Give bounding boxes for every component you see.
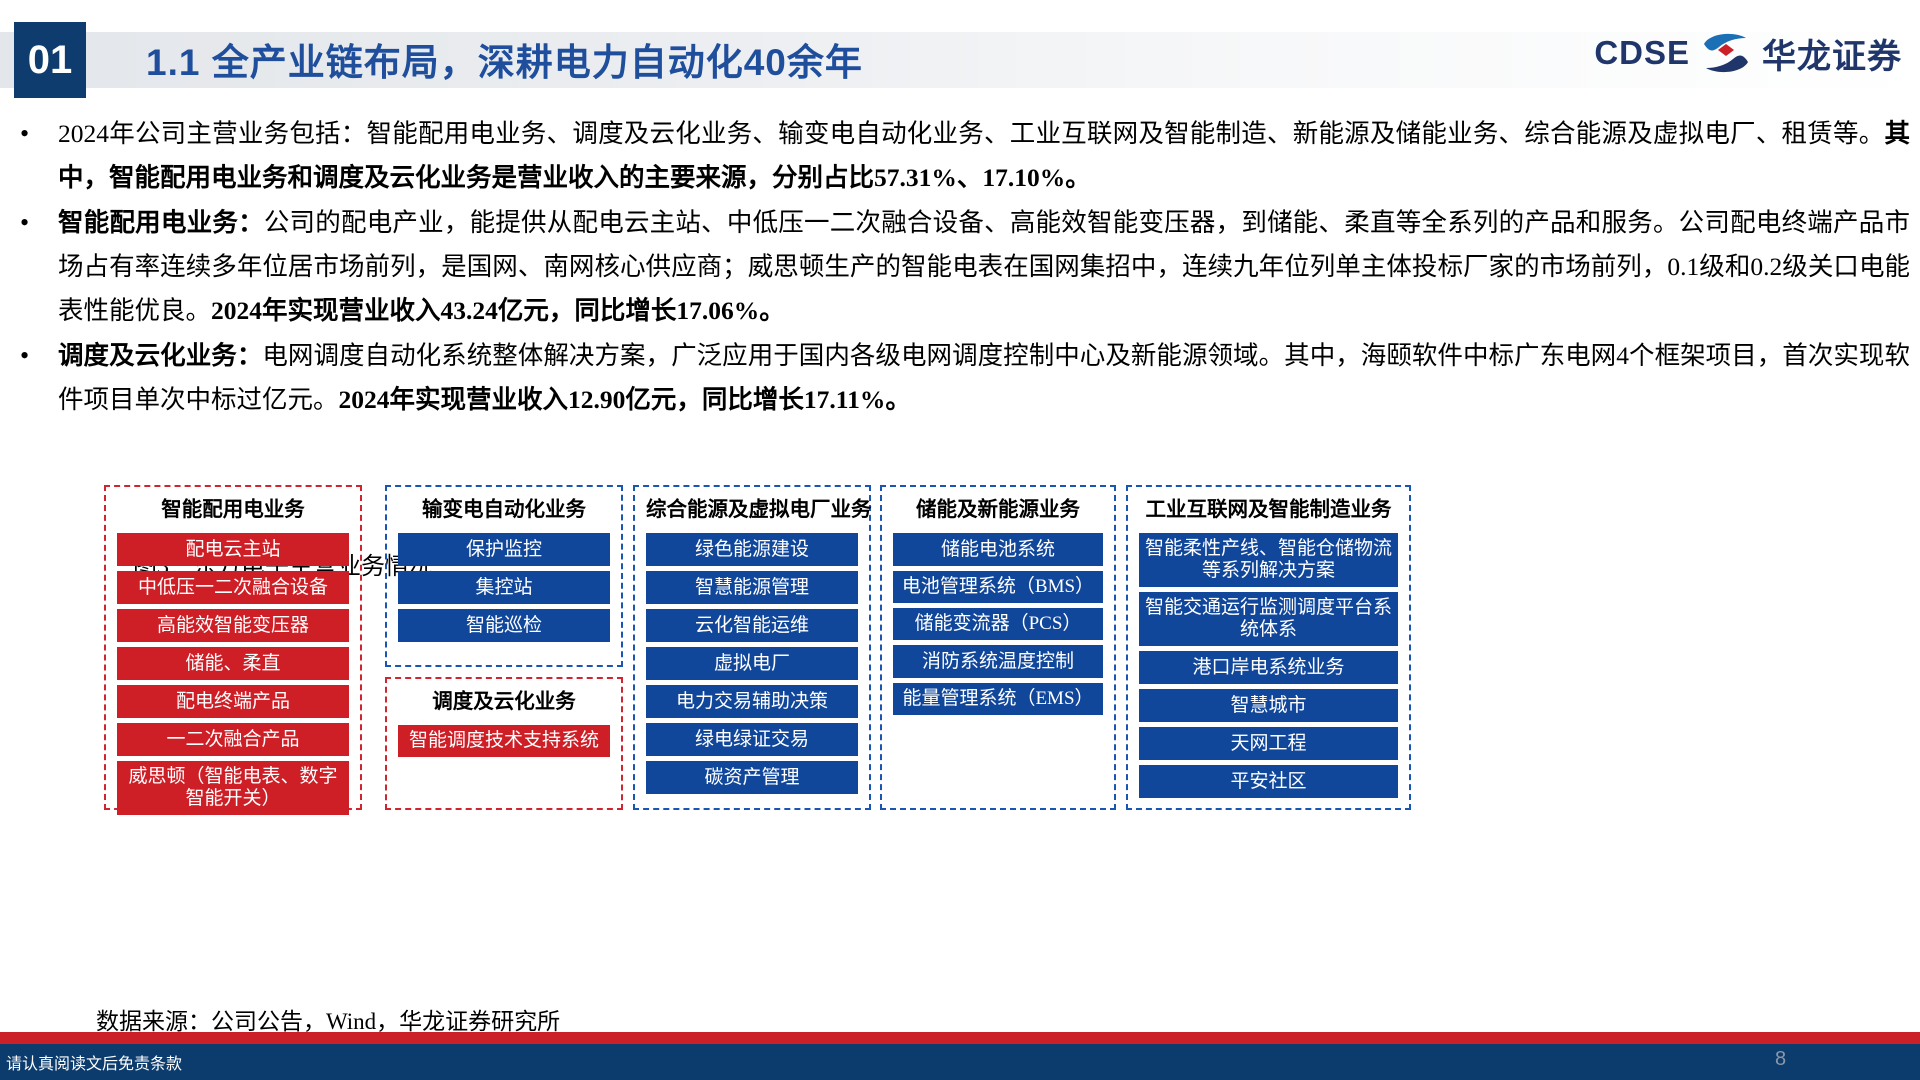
group-dispatch-cloud: 调度及云化业务 智能调度技术支持系统 (385, 677, 623, 810)
group-smart-distribution: 智能配用电业务 配电云主站 中低压一二次融合设备 高能效智能变压器 储能、柔直 … (104, 485, 362, 810)
company-logo: CDSE 华龙证券 (1594, 26, 1902, 80)
diagram-column-3: 综合能源及虚拟电厂业务 绿色能源建设 智慧能源管理 云化智能运维 虚拟电厂 电力… (633, 485, 871, 810)
chip-item: 储能变流器（PCS） (893, 608, 1103, 640)
logo-chinese-text: 华龙证券 (1762, 29, 1902, 78)
chip-item: 能量管理系统（EMS） (893, 683, 1103, 715)
footer-navy-bar: 请认真阅读文后免责条款 8 (0, 1044, 1920, 1080)
group-storage-new-energy: 储能及新能源业务 储能电池系统 电池管理系统（BMS） 储能变流器（PCS） 消… (880, 485, 1116, 810)
bullet-run-bold: 2024年实现营业收入43.24亿元，同比增长17.06%。 (211, 296, 785, 325)
diagram-column-5: 工业互联网及智能制造业务 智能柔性产线、智能仓储物流等系列解决方案 智能交通运行… (1126, 485, 1411, 810)
chip-item: 智慧能源管理 (646, 571, 858, 604)
footer-disclaimer: 请认真阅读文后免责条款 (6, 1050, 182, 1074)
group-title: 智能配用电业务 (117, 498, 349, 522)
business-structure-diagram: 智能配用电业务 配电云主站 中低压一二次融合设备 高能效智能变压器 储能、柔直 … (104, 485, 1704, 810)
chip-item: 智能调度技术支持系统 (398, 725, 610, 757)
chip-item: 消防系统温度控制 (893, 645, 1103, 678)
page-title: 1.1 全产业链布局，深耕电力自动化40余年 (146, 30, 863, 88)
slide-header: 01 1.1 全产业链布局，深耕电力自动化40余年 CDSE 华龙证券 (0, 0, 1920, 112)
chip-item: 碳资产管理 (646, 761, 858, 794)
bullet-marker: • (20, 201, 29, 245)
wave-swoosh-icon (1700, 32, 1752, 74)
chip-item: 高能效智能变压器 (117, 609, 349, 642)
chip-item: 一二次融合产品 (117, 723, 349, 756)
bullet-run: 电网调度自动化系统整体解决方案，广泛应用于国内各级电网调度控制中心及新能源领域。… (58, 341, 1910, 414)
chip-item: 电力交易辅助决策 (646, 685, 858, 718)
chip-item: 储能、柔直 (117, 647, 349, 680)
group-transmission-automation: 输变电自动化业务 保护监控 集控站 智能巡检 (385, 485, 623, 667)
bullet-run-bold: 智能配用电业务： (58, 208, 264, 237)
chip-item: 虚拟电厂 (646, 647, 858, 680)
group-title: 工业互联网及智能制造业务 (1139, 498, 1398, 522)
group-title: 储能及新能源业务 (893, 498, 1103, 522)
chip-item: 智能巡检 (398, 609, 610, 642)
group-integrated-energy-vpp: 综合能源及虚拟电厂业务 绿色能源建设 智慧能源管理 云化智能运维 虚拟电厂 电力… (633, 485, 871, 810)
group-title: 综合能源及虚拟电厂业务 (646, 498, 858, 522)
chip-item: 港口岸电系统业务 (1139, 651, 1398, 684)
body-text: • 2024年公司主营业务包括：智能配用电业务、调度及云化业务、输变电自动化业务… (10, 112, 1910, 423)
group-items: 智能调度技术支持系统 (398, 725, 610, 797)
chip-item: 智能柔性产线、智能仓储物流等系列解决方案 (1139, 533, 1398, 587)
bullet-run: 2024年公司主营业务包括：智能配用电业务、调度及云化业务、输变电自动化业务、工… (58, 119, 1884, 148)
chip-item: 威思顿（智能电表、数字智能开关） (117, 761, 349, 815)
bullet-run-bold: 调度及云化业务： (58, 341, 262, 370)
group-items: 储能电池系统 电池管理系统（BMS） 储能变流器（PCS） 消防系统温度控制 能… (893, 533, 1103, 797)
bullet-text: 调度及云化业务：电网调度自动化系统整体解决方案，广泛应用于国内各级电网调度控制中… (58, 334, 1910, 422)
group-items: 保护监控 集控站 智能巡检 (398, 533, 610, 654)
bullet-item: • 智能配用电业务：公司的配电产业，能提供从配电云主站、中低压一二次融合设备、高… (10, 201, 1910, 333)
group-industrial-internet: 工业互联网及智能制造业务 智能柔性产线、智能仓储物流等系列解决方案 智能交通运行… (1126, 485, 1411, 810)
group-title: 输变电自动化业务 (398, 498, 610, 522)
chip-item: 配电云主站 (117, 533, 349, 566)
chip-item: 集控站 (398, 571, 610, 604)
diagram-column-4: 储能及新能源业务 储能电池系统 电池管理系统（BMS） 储能变流器（PCS） 消… (880, 485, 1116, 810)
chip-item: 智能交通运行监测调度平台系统体系 (1139, 592, 1398, 646)
chip-item: 云化智能运维 (646, 609, 858, 642)
chip-item: 平安社区 (1139, 765, 1398, 798)
chip-item: 保护监控 (398, 533, 610, 566)
group-items: 绿色能源建设 智慧能源管理 云化智能运维 虚拟电厂 电力交易辅助决策 绿电绿证交… (646, 533, 858, 797)
chip-item: 电池管理系统（BMS） (893, 571, 1103, 603)
chip-item: 储能电池系统 (893, 533, 1103, 566)
chip-item: 智慧城市 (1139, 689, 1398, 722)
bullet-text: 智能配用电业务：公司的配电产业，能提供从配电云主站、中低压一二次融合设备、高能效… (58, 201, 1910, 333)
logo-latin-text: CDSE (1594, 34, 1690, 72)
chip-item: 绿色能源建设 (646, 533, 858, 566)
diagram-column-1: 智能配用电业务 配电云主站 中低压一二次融合设备 高能效智能变压器 储能、柔直 … (104, 485, 362, 810)
bullet-marker: • (20, 334, 29, 378)
footer-red-bar (0, 1032, 1920, 1044)
page-number: 8 (1775, 1048, 1786, 1071)
bullet-item: • 调度及云化业务：电网调度自动化系统整体解决方案，广泛应用于国内各级电网调度控… (10, 334, 1910, 422)
group-title: 调度及云化业务 (398, 690, 610, 714)
bullet-item: • 2024年公司主营业务包括：智能配用电业务、调度及云化业务、输变电自动化业务… (10, 112, 1910, 200)
figure-source: 数据来源：公司公告，Wind，华龙证券研究所 (96, 1002, 560, 1036)
chip-item: 配电终端产品 (117, 685, 349, 718)
section-number-badge: 01 (14, 22, 86, 98)
bullet-text: 2024年公司主营业务包括：智能配用电业务、调度及云化业务、输变电自动化业务、工… (58, 112, 1910, 200)
diagram-column-2: 输变电自动化业务 保护监控 集控站 智能巡检 调度及云化业务 智能调度技术支持系… (385, 485, 623, 810)
group-items: 智能柔性产线、智能仓储物流等系列解决方案 智能交通运行监测调度平台系统体系 港口… (1139, 533, 1398, 798)
chip-item: 绿电绿证交易 (646, 723, 858, 756)
chip-item: 天网工程 (1139, 727, 1398, 760)
bullet-run-bold: 2024年实现营业收入12.90亿元，同比增长17.11%。 (339, 385, 911, 414)
group-items: 配电云主站 中低压一二次融合设备 高能效智能变压器 储能、柔直 配电终端产品 一… (117, 533, 349, 815)
bullet-marker: • (20, 112, 29, 156)
chip-item: 中低压一二次融合设备 (117, 571, 349, 604)
